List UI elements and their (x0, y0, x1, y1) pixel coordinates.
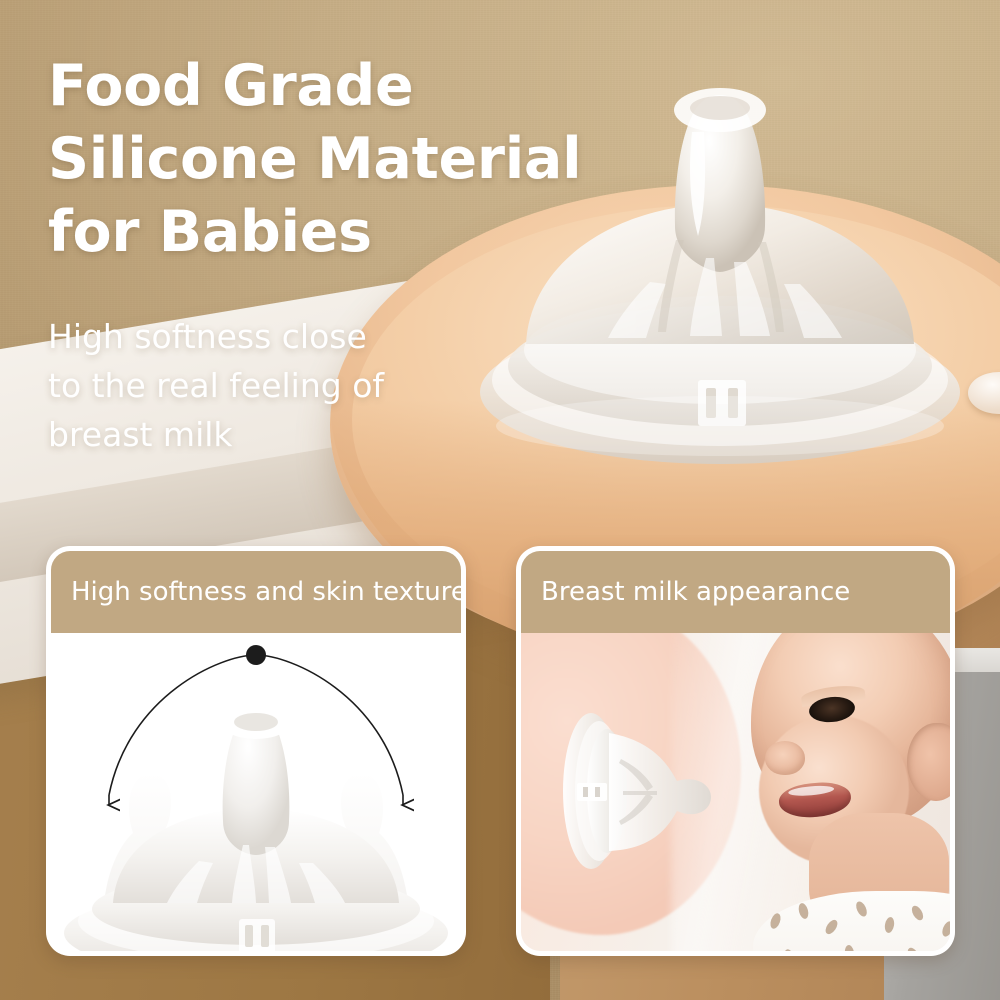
baby-with-nipple-photo (521, 633, 950, 951)
feature-cards: High softness and skin texture (0, 0, 1000, 1000)
card-illustration-area (51, 633, 461, 951)
pivot-dot (246, 645, 266, 665)
card-caption-bar: Breast milk appearance (521, 551, 950, 633)
card-inner: Breast milk appearance (521, 551, 950, 951)
card-caption-text: High softness and skin texture (71, 577, 461, 607)
card-caption-bar: High softness and skin texture (51, 551, 461, 633)
card-caption-text: Breast milk appearance (541, 577, 850, 607)
baby-clothing-pattern (753, 891, 950, 951)
nipple-flex-illustration (51, 633, 461, 951)
baby-portrait (731, 633, 950, 951)
product-marketing-poster: Food Grade Silicone Material for Babies … (0, 0, 1000, 1000)
feature-card-high-softness[interactable]: High softness and skin texture (46, 546, 466, 956)
bottle-nipple-side-view (551, 701, 741, 881)
feature-card-breast-milk-appearance[interactable]: Breast milk appearance (516, 546, 955, 956)
baby-clothing (753, 891, 950, 951)
card-inner: High softness and skin texture (51, 551, 461, 951)
baby-nose (765, 741, 805, 775)
card-photo-area (521, 633, 950, 951)
